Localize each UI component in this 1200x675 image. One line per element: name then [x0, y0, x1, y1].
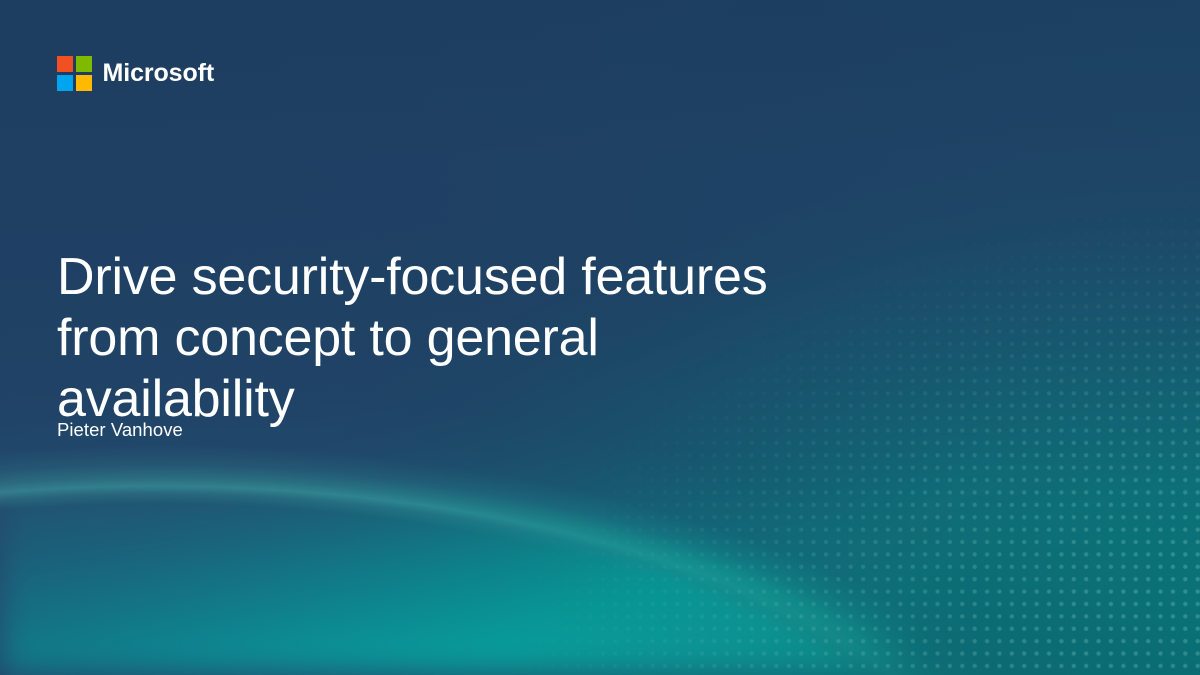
title-slide: Microsoft Drive security-focused feature…	[0, 0, 1200, 675]
slide-title-line-2: from concept to general	[57, 308, 817, 369]
microsoft-wordmark: Microsoft	[103, 61, 215, 86]
slide-title-line-1: Drive security-focused features	[57, 247, 817, 308]
logo-yellow-square	[76, 75, 92, 91]
slide-title: Drive security-focused features from con…	[57, 247, 817, 430]
logo-red-square	[57, 56, 73, 72]
logo-blue-square	[57, 75, 73, 91]
microsoft-logo-icon	[57, 56, 92, 91]
presenter-name: Pieter Vanhove	[57, 418, 183, 442]
microsoft-brand-lockup: Microsoft	[57, 56, 214, 91]
logo-green-square	[76, 56, 92, 72]
